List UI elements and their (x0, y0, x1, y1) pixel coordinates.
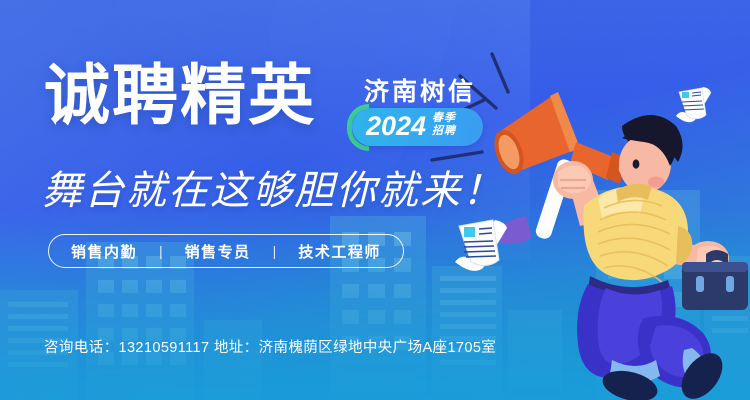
positions-pill: 销售内勤 | 销售专员 | 技术工程师 (48, 234, 404, 268)
position-separator-1: | (137, 243, 185, 259)
character-shirt (583, 184, 692, 282)
contact-footer: 咨询电话：13210591117 地址：济南槐荫区绿地中央广场A座1705室 (44, 336, 496, 357)
resume-document-icon (443, 212, 511, 274)
left-hand (553, 161, 593, 199)
resume-document-small-icon (668, 82, 714, 126)
page-title: 诚聘精英 (44, 62, 316, 128)
position-separator-2: | (251, 243, 299, 259)
position-item-1: 销售内勤 (71, 241, 137, 262)
character-head (619, 115, 683, 193)
badge-year-label: 2024 (366, 112, 426, 140)
position-item-3: 技术工程师 (298, 241, 381, 262)
page-subtitle: 舞台就在这够胆你就来！ (42, 158, 504, 216)
position-item-2: 销售专员 (185, 241, 251, 262)
badge-season-line1: 春季 (432, 112, 456, 125)
badge-season-label: 春季 招聘 (432, 112, 456, 137)
badge-season-line2: 招聘 (432, 125, 456, 138)
recruitment-banner: 诚聘精英 济南树信 2024 春季 招聘 舞台就在这够胆你就来！ 销售内勤 | … (0, 0, 750, 400)
company-name: 济南树信 (364, 72, 476, 108)
